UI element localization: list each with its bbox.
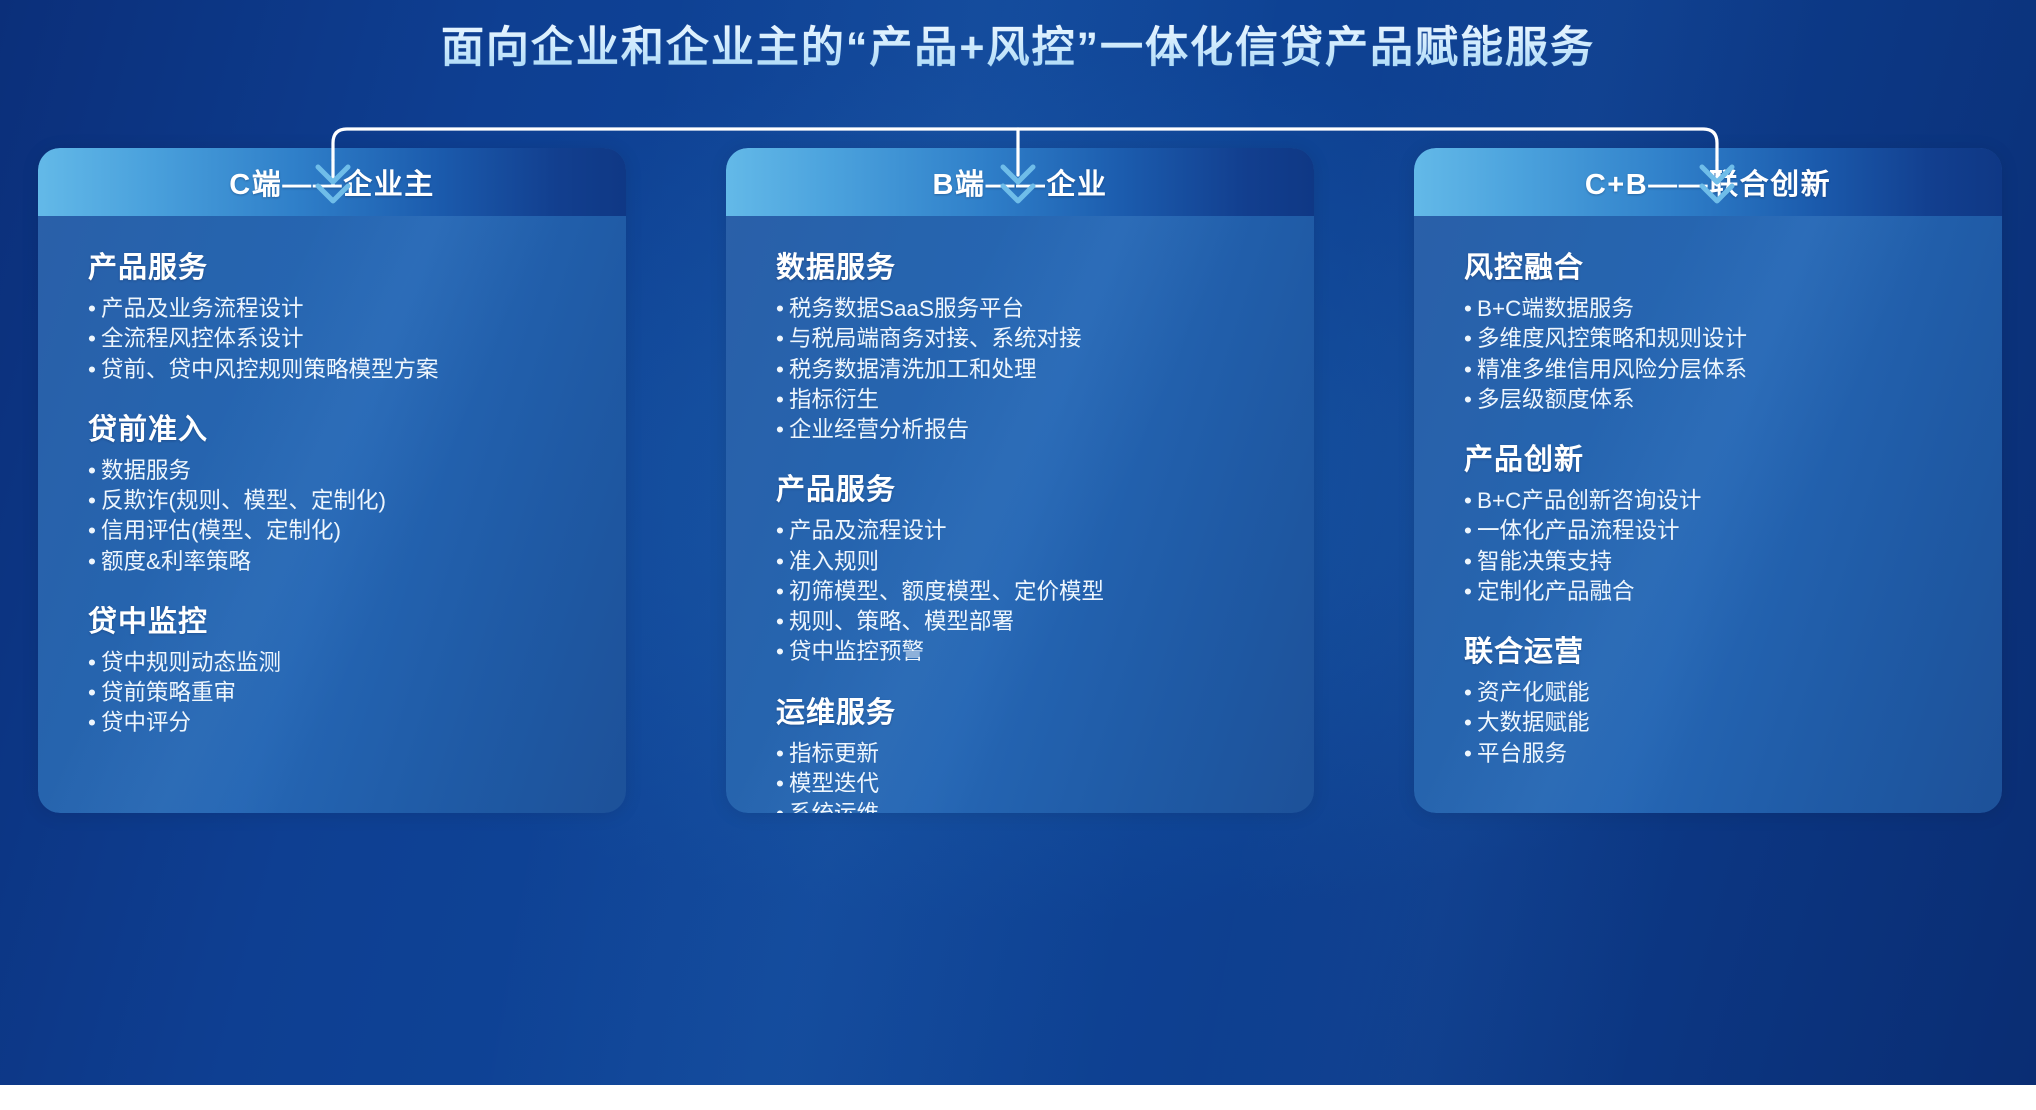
section: 风控融合 B+C端数据服务 多维度风控策略和规则设计 精准多维信用风险分层体系 … — [1464, 244, 1976, 414]
list-item: 初筛模型、额度模型、定价模型 — [776, 577, 1288, 606]
list-item: 指标更新 — [776, 739, 1288, 768]
bullet-list: B+C端数据服务 多维度风控策略和规则设计 精准多维信用风险分层体系 多层级额度… — [1464, 294, 1976, 414]
list-item: 精准多维信用风险分层体系 — [1464, 355, 1976, 384]
list-item: 贷中评分 — [88, 708, 600, 737]
bullet-list: 产品及业务流程设计 全流程风控体系设计 贷前、贷中风控规则策略模型方案 — [88, 294, 600, 384]
page-title-text: 面向企业和企业主的“产品+风控”一体化信贷产品赋能服务 — [441, 22, 1595, 76]
section: 运维服务 指标更新 模型迭代 系统运维 — [776, 689, 1288, 814]
list-item: 产品及流程设计 — [776, 516, 1288, 545]
list-item: 定制化产品融合 — [1464, 577, 1976, 606]
bullet-list: B+C产品创新咨询设计 一体化产品流程设计 智能决策支持 定制化产品融合 — [1464, 486, 1976, 606]
list-item: 贷中规则动态监测 — [88, 648, 600, 677]
list-item: 贷前、贷中风控规则策略模型方案 — [88, 355, 600, 384]
section: 产品服务 产品及流程设计 准入规则 初筛模型、额度模型、定价模型 规则、策略、模… — [776, 466, 1288, 666]
column-card-c-end: C端——企业主 产品服务 产品及业务流程设计 全流程风控体系设计 贷前、贷中风控… — [38, 148, 626, 813]
card-header: C+B——联合创新 — [1414, 148, 2002, 216]
list-item: 企业经营分析报告 — [776, 415, 1288, 444]
page-title: 面向企业和企业主的“产品+风控”一体化信贷产品赋能服务 — [0, 22, 2036, 76]
list-item: 税务数据SaaS服务平台 — [776, 294, 1288, 323]
list-item: 指标衍生 — [776, 385, 1288, 414]
list-item: 智能决策支持 — [1464, 547, 1976, 576]
list-item: 资产化赋能 — [1464, 678, 1976, 707]
column-card-cb-joint: C+B——联合创新 风控融合 B+C端数据服务 多维度风控策略和规则设计 精准多… — [1414, 148, 2002, 813]
section: 贷前准入 数据服务 反欺诈(规则、模型、定制化) 信用评估(模型、定制化) 额度… — [88, 406, 600, 576]
section-title: 贷中监控 — [88, 598, 600, 640]
bullet-list: 指标更新 模型迭代 系统运维 — [776, 739, 1288, 814]
list-item: 准入规则 — [776, 547, 1288, 576]
section: 数据服务 税务数据SaaS服务平台 与税局端商务对接、系统对接 税务数据清洗加工… — [776, 244, 1288, 444]
card-content: 风控融合 B+C端数据服务 多维度风控策略和规则设计 精准多维信用风险分层体系 … — [1414, 216, 2002, 813]
list-item: B+C产品创新咨询设计 — [1464, 486, 1976, 515]
bullet-list: 产品及流程设计 准入规则 初筛模型、额度模型、定价模型 规则、策略、模型部署 贷… — [776, 516, 1288, 666]
card-header: C端——企业主 — [38, 148, 626, 216]
list-item: 反欺诈(规则、模型、定制化) — [88, 486, 600, 515]
bullet-list: 贷中规则动态监测 贷前策略重审 贷中评分 — [88, 648, 600, 738]
list-item: 贷前策略重审 — [88, 678, 600, 707]
list-item: 数据服务 — [88, 456, 600, 485]
section-title: 贷前准入 — [88, 406, 600, 448]
list-item: B+C端数据服务 — [1464, 294, 1976, 323]
bullet-list: 税务数据SaaS服务平台 与税局端商务对接、系统对接 税务数据清洗加工和处理 指… — [776, 294, 1288, 444]
section-title: 风控融合 — [1464, 244, 1976, 286]
list-item: 规则、策略、模型部署 — [776, 607, 1288, 636]
section: 贷中监控 贷中规则动态监测 贷前策略重审 贷中评分 — [88, 598, 600, 738]
list-item: 大数据赋能 — [1464, 708, 1976, 737]
list-item: 平台服务 — [1464, 739, 1976, 768]
list-item: 信用评估(模型、定制化) — [88, 516, 600, 545]
list-item: 系统运维 — [776, 799, 1288, 813]
card-content: 数据服务 税务数据SaaS服务平台 与税局端商务对接、系统对接 税务数据清洗加工… — [726, 216, 1314, 813]
section-title: 运维服务 — [776, 689, 1288, 731]
list-item: 多维度风控策略和规则设计 — [1464, 324, 1976, 353]
card-header-title: B端——企业 — [933, 161, 1108, 203]
card-header-title: C端——企业主 — [229, 161, 434, 203]
list-item: 额度&利率策略 — [88, 547, 600, 576]
bullet-list: 资产化赋能 大数据赋能 平台服务 — [1464, 678, 1976, 768]
section: 产品服务 产品及业务流程设计 全流程风控体系设计 贷前、贷中风控规则策略模型方案 — [88, 244, 600, 384]
list-item: 与税局端商务对接、系统对接 — [776, 324, 1288, 353]
card-content: 产品服务 产品及业务流程设计 全流程风控体系设计 贷前、贷中风控规则策略模型方案… — [38, 216, 626, 813]
slide-canvas: 面向企业和企业主的“产品+风控”一体化信贷产品赋能服务 C端——企业主 — [0, 0, 2036, 1085]
section-title: 产品创新 — [1464, 436, 1976, 478]
list-item: 全流程风控体系设计 — [88, 324, 600, 353]
list-item: 税务数据清洗加工和处理 — [776, 355, 1288, 384]
list-item: 一体化产品流程设计 — [1464, 516, 1976, 545]
column-card-b-end: B端——企业 数据服务 税务数据SaaS服务平台 与税局端商务对接、系统对接 税… — [726, 148, 1314, 813]
section-title: 联合运营 — [1464, 628, 1976, 670]
section-title: 产品服务 — [776, 466, 1288, 508]
card-header: B端——企业 — [726, 148, 1314, 216]
bullet-list: 数据服务 反欺诈(规则、模型、定制化) 信用评估(模型、定制化) 额度&利率策略 — [88, 456, 600, 576]
section-title: 产品服务 — [88, 244, 600, 286]
card-header-title: C+B——联合创新 — [1585, 161, 1831, 203]
list-item: 多层级额度体系 — [1464, 385, 1976, 414]
section: 产品创新 B+C产品创新咨询设计 一体化产品流程设计 智能决策支持 定制化产品融… — [1464, 436, 1976, 606]
list-item: 产品及业务流程设计 — [88, 294, 600, 323]
list-item: 模型迭代 — [776, 769, 1288, 798]
section: 联合运营 资产化赋能 大数据赋能 平台服务 — [1464, 628, 1976, 768]
section-title: 数据服务 — [776, 244, 1288, 286]
list-item: 贷中监控预警 — [776, 637, 1288, 666]
